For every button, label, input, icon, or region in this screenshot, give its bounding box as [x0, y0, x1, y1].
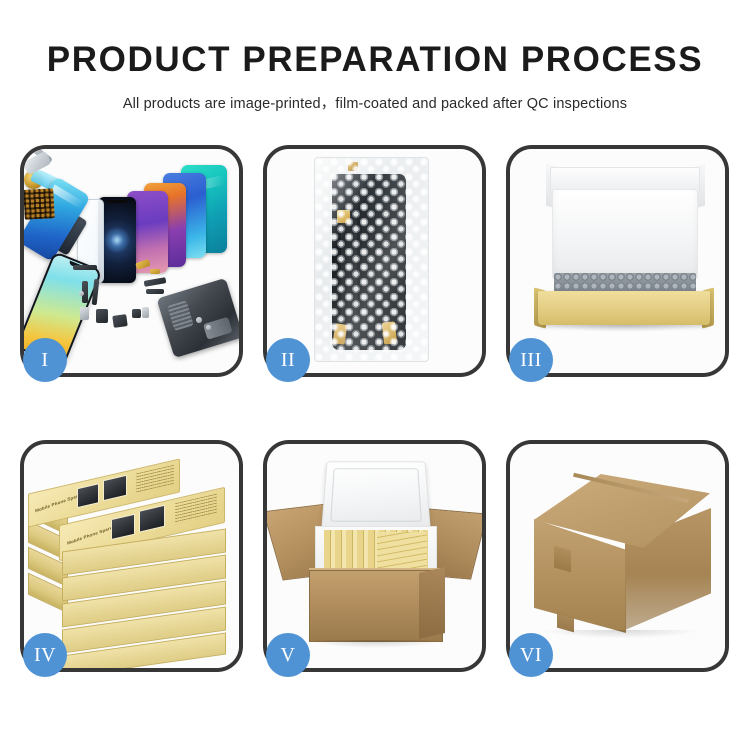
part-bracket — [96, 309, 108, 323]
page-subtitle: All products are image-printed，film-coat… — [0, 92, 750, 113]
box-stack: Mobile Phone Spare Parts Mobile Phone Sp… — [24, 444, 239, 668]
step-6-photo — [510, 444, 725, 668]
step-6-sealed-carton: VI — [506, 440, 729, 672]
phones-and-spare-parts-illustration — [24, 149, 239, 373]
carton-tape-upper — [554, 546, 571, 573]
step-badge: VI — [509, 633, 553, 677]
part-speaker — [73, 265, 97, 270]
part-contact-grid — [24, 188, 55, 220]
part-camera-module — [80, 307, 89, 320]
part-shield-plate — [112, 314, 128, 328]
product-preparation-process-infographic: PRODUCT PREPARATION PROCESS All products… — [0, 0, 750, 750]
part-chip — [132, 309, 141, 318]
page-title: PRODUCT PREPARATION PROCESS — [0, 42, 750, 79]
step-3-photo — [510, 149, 725, 373]
part-flex-cable-c — [144, 277, 167, 287]
step-4-photo: Mobile Phone Spare Parts Mobile Phone Sp… — [24, 444, 239, 668]
plastic-sheen — [315, 158, 428, 361]
carton-tape-lower — [557, 608, 574, 633]
part-screw-b — [206, 325, 211, 330]
carton-body-right — [419, 567, 445, 639]
header: PRODUCT PREPARATION PROCESS All products… — [0, 0, 750, 113]
part-flex-cable-d — [146, 289, 164, 294]
step-badge: III — [509, 338, 553, 382]
step-2-bubble-wrap: II — [263, 145, 486, 377]
step-5-carton-loading: V — [263, 440, 486, 672]
foam-lid — [321, 461, 431, 530]
white-foam-sheet — [552, 189, 698, 279]
drop-shadow — [311, 640, 439, 648]
step-3-foam-tray-box: III — [506, 145, 729, 377]
part-screw-c — [79, 291, 84, 296]
part-sim-tray — [142, 307, 149, 318]
step-4-boxed-stack: Mobile Phone Spare Parts Mobile Phone Sp… — [20, 440, 243, 672]
step-5-photo — [267, 444, 482, 668]
drop-shadow — [546, 630, 696, 638]
step-2-photo — [267, 149, 482, 373]
part-screw-a — [196, 317, 202, 323]
drop-shadow — [544, 325, 704, 332]
yellow-tray-box — [538, 291, 710, 325]
step-1-photo — [24, 149, 239, 373]
step-badge: V — [266, 633, 310, 677]
part-gold-clip — [150, 269, 160, 274]
process-step-grid: I II — [20, 145, 730, 672]
step-badge: II — [266, 338, 310, 382]
step-badge: IV — [23, 633, 67, 677]
bubble-wrap-bag — [314, 157, 429, 362]
step-1-products-and-parts: I — [20, 145, 243, 377]
step-badge: I — [23, 338, 67, 382]
packed-yellow-boxes-right — [377, 532, 427, 572]
